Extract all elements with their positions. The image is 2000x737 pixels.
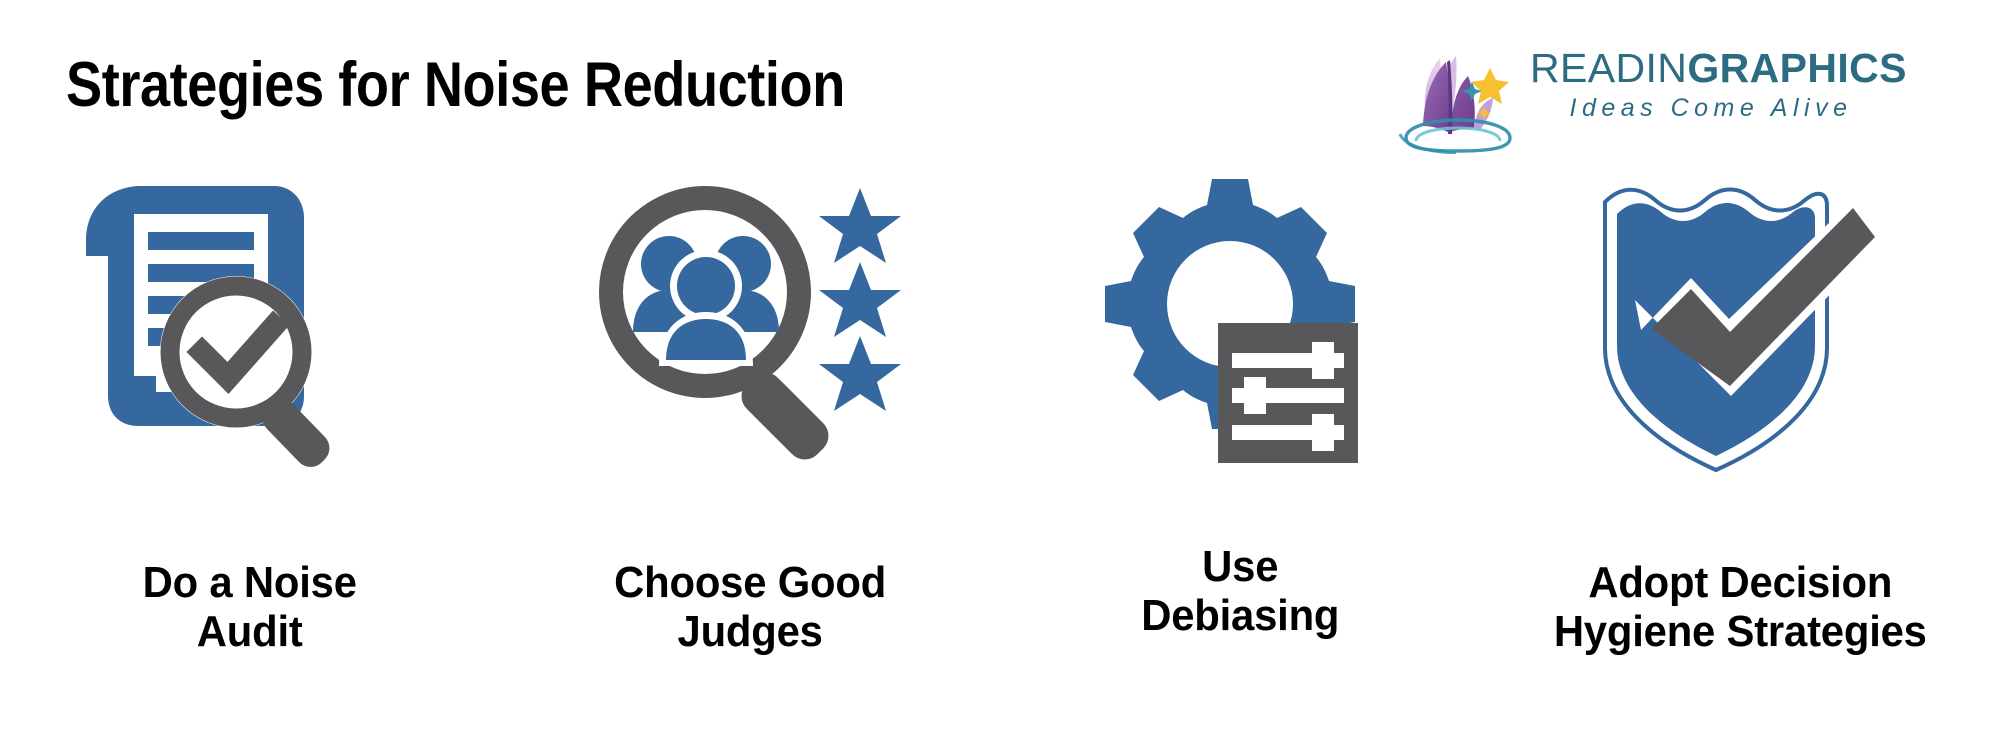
strategy-card: Do a Noise Audit — [0, 175, 500, 735]
strategy-card-label: Choose Good Judges — [614, 558, 886, 657]
icon-slot — [1480, 175, 2000, 530]
icon-slot — [500, 175, 1000, 530]
strategy-card: Adopt Decision Hygiene Strategies — [1480, 175, 2000, 735]
strategy-card-label: Adopt Decision Hygiene Strategies — [1554, 558, 1927, 657]
star-icon — [819, 336, 901, 411]
logo-word-bold: GRAPHICS — [1687, 45, 1907, 91]
icon-slot — [1000, 175, 1480, 530]
logo-text-block: READINGRAPHICS Ideas Come Alive — [1530, 48, 1898, 121]
gear-with-sliders-icon — [1090, 175, 1390, 465]
logo-word-light: READIN — [1530, 45, 1687, 91]
page-title: Strategies for Noise Reduction — [66, 52, 845, 118]
open-book-with-stars-logo-mark — [1398, 46, 1520, 154]
strategy-card-label: Do a Noise Audit — [143, 558, 357, 657]
icon-slot — [0, 175, 500, 530]
document-with-magnifier-check-icon — [60, 180, 400, 480]
strategy-card-row: Do a Noise Audit — [0, 175, 2000, 735]
infographic-canvas: Strategies for Noise Reduction — [0, 0, 2000, 737]
strategy-card: Choose Good Judges — [500, 175, 1000, 735]
logo-wordmark: READINGRAPHICS — [1530, 48, 1898, 89]
shield-with-checkmark-icon — [1565, 180, 1905, 480]
strategy-card-label: Use Debiasing — [1141, 542, 1339, 641]
brand-logo: READINGRAPHICS Ideas Come Alive — [1398, 42, 1898, 154]
strategy-card: Use Debiasing — [1000, 175, 1480, 735]
star-icon — [819, 188, 901, 263]
magnifier-people-stars-icon — [585, 180, 905, 490]
logo-tagline: Ideas Come Alive — [1530, 96, 1898, 121]
star-icon — [819, 262, 901, 337]
